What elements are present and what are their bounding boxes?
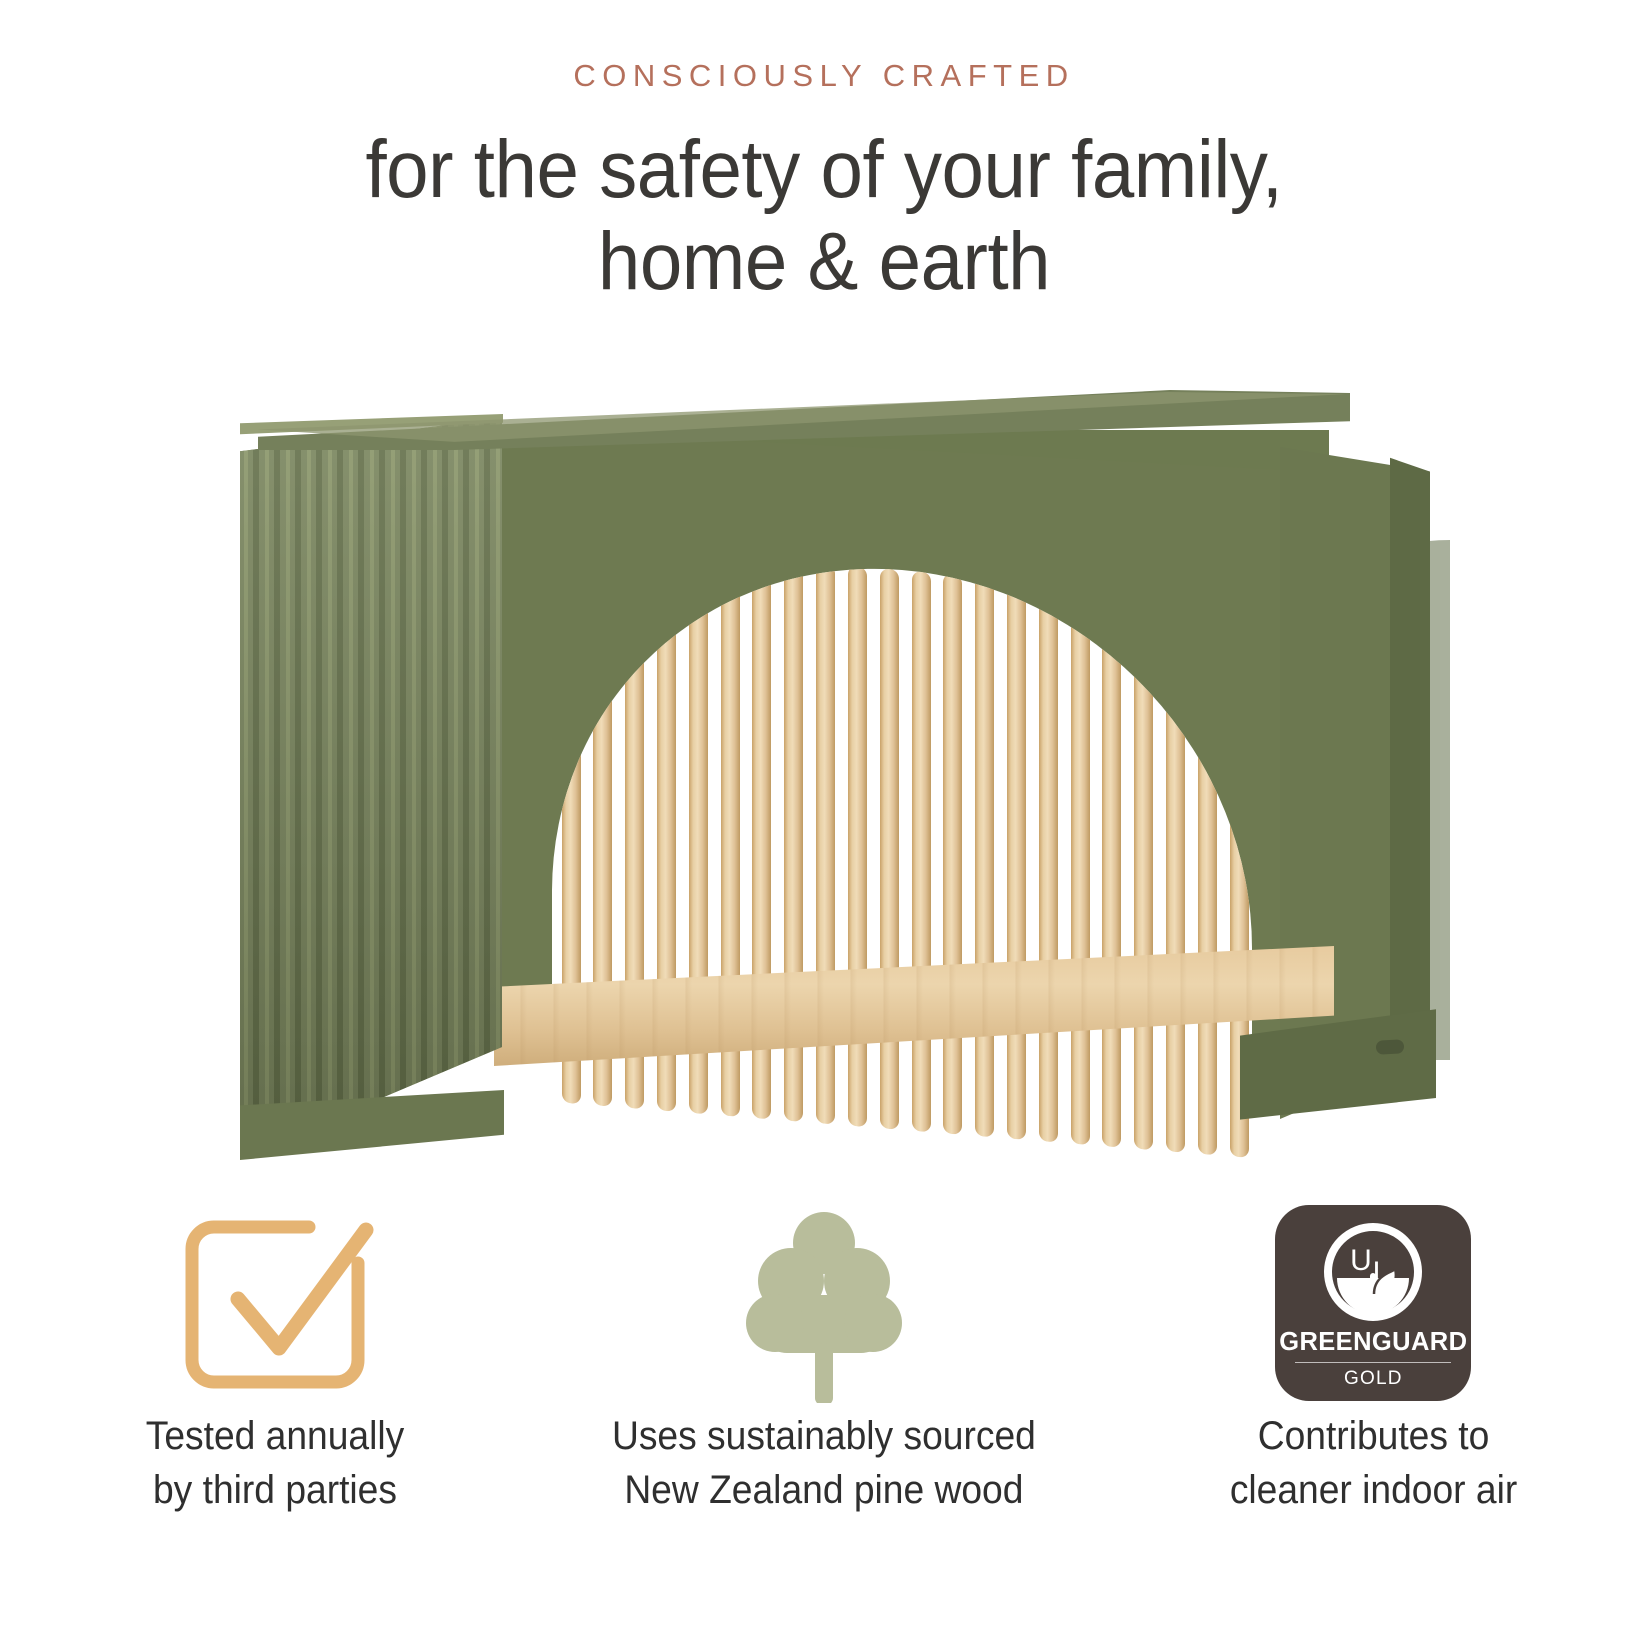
crib-spindle bbox=[1007, 578, 1026, 1140]
crib-spindles bbox=[552, 542, 1252, 1158]
feature-caption-line-2: cleaner indoor air bbox=[1230, 1464, 1517, 1518]
crib-spindle bbox=[943, 573, 962, 1135]
greenguard-name: GREENGUARD bbox=[1279, 1328, 1467, 1357]
feature-caption-line-2: New Zealand pine wood bbox=[612, 1464, 1036, 1518]
feature-icon-wrapper bbox=[175, 1195, 375, 1410]
feature-item: U L GREENGUARD GOLD Contributes to clean… bbox=[1099, 1195, 1648, 1595]
feature-icon-wrapper: U L GREENGUARD GOLD bbox=[1275, 1195, 1471, 1410]
svg-text:U: U bbox=[1350, 1244, 1372, 1277]
crib-spindle bbox=[1071, 584, 1090, 1146]
eyebrow-text: CONSCIOUSLY CRAFTED bbox=[0, 58, 1648, 94]
feature-icon-wrapper bbox=[729, 1195, 919, 1410]
crib-left-fluted-panel bbox=[240, 418, 502, 1158]
crib-spindle bbox=[975, 576, 994, 1138]
crib-left-panel-shading bbox=[240, 418, 502, 1158]
convertible-crib-illustration bbox=[240, 390, 1420, 1170]
header: CONSCIOUSLY CRAFTED for the safety of yo… bbox=[0, 0, 1648, 308]
crib-hardware-notch bbox=[1376, 1039, 1405, 1054]
crib-spindle bbox=[880, 568, 899, 1130]
greenguard-tier: GOLD bbox=[1344, 1368, 1403, 1390]
tree-icon bbox=[729, 1203, 919, 1403]
feature-item: Uses sustainably sourced New Zealand pin… bbox=[549, 1195, 1098, 1595]
headline-line-2: home & earth bbox=[58, 216, 1591, 308]
crib-spindle bbox=[1134, 589, 1153, 1151]
feature-item: Tested annually by third parties bbox=[0, 1195, 549, 1595]
feature-row: Tested annually by third parties Uses su… bbox=[0, 1195, 1648, 1595]
crib-spindle bbox=[1198, 594, 1217, 1156]
greenguard-gold-badge-icon: U L GREENGUARD GOLD bbox=[1275, 1205, 1471, 1401]
crib-spindle bbox=[1039, 581, 1058, 1143]
page-title: for the safety of your family, home & ea… bbox=[58, 124, 1591, 308]
feature-caption-line-2: by third parties bbox=[145, 1464, 404, 1518]
feature-caption: Uses sustainably sourced New Zealand pin… bbox=[612, 1410, 1036, 1517]
feature-caption-line-1: Tested annually bbox=[145, 1410, 404, 1464]
feature-caption: Contributes to cleaner indoor air bbox=[1230, 1410, 1517, 1517]
checkbox-check-icon bbox=[175, 1208, 375, 1398]
feature-caption: Tested annually by third parties bbox=[145, 1410, 404, 1517]
feature-caption-line-1: Uses sustainably sourced bbox=[612, 1410, 1036, 1464]
crib-spindle bbox=[1166, 591, 1185, 1153]
ul-mark-icon: U L bbox=[1321, 1220, 1425, 1324]
crib-spindle bbox=[912, 571, 931, 1133]
product-image bbox=[0, 370, 1648, 1190]
crib-spindle bbox=[1102, 586, 1121, 1148]
headline-line-1: for the safety of your family, bbox=[58, 124, 1591, 216]
feature-caption-line-1: Contributes to bbox=[1230, 1410, 1517, 1464]
badge-divider bbox=[1295, 1362, 1451, 1364]
